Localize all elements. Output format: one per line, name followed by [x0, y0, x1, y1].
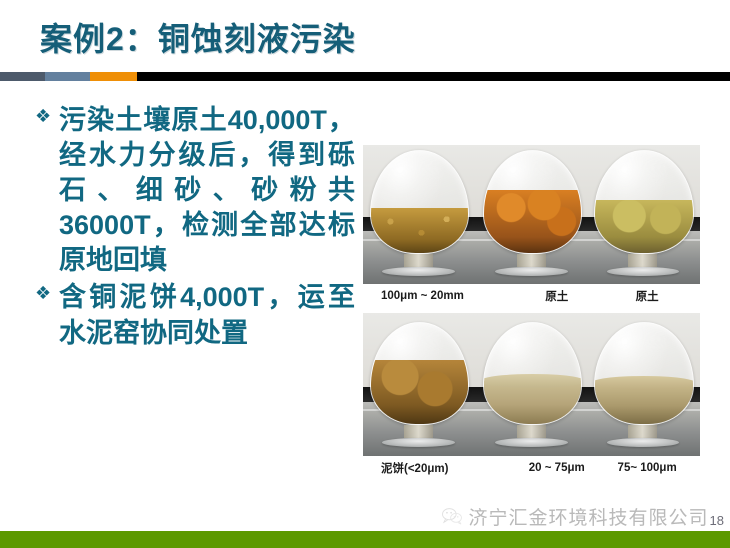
accent-seg-slate-dark — [0, 72, 45, 81]
bullet-item-2-text: 含铜泥饼4,000T，运至水泥窑协同处置 — [59, 280, 355, 350]
caption-bottom-2: 20 ~ 75μm — [511, 462, 602, 474]
page-number: 18 — [710, 513, 724, 530]
top-photo — [363, 145, 700, 284]
glass-egg-icon — [594, 150, 694, 254]
slide-root: 案例2：铜蚀刻液污染 ❖ 污染土壤原土40,000T，经水力分级后，得到砾石、细… — [0, 0, 730, 548]
vessel-base — [382, 267, 454, 276]
photo-gallery: 100μm ~ 20mm 原土 原土 — [363, 145, 700, 479]
bullet-item-1-text: 污染土壤原土40,000T，经水力分级后，得到砾石、细砂、砂粉共36000T，检… — [59, 103, 355, 278]
caption-top-1: 100μm ~ 20mm — [363, 290, 511, 302]
vessel-stem — [404, 254, 433, 267]
sample-vessel-6 — [594, 322, 692, 448]
vessel-stem — [628, 425, 657, 438]
vessel-base — [382, 438, 454, 447]
vessel-stem — [517, 425, 546, 438]
sample-material — [484, 381, 582, 425]
sample-material — [484, 190, 582, 253]
glass-egg-icon — [594, 322, 694, 426]
sample-material — [371, 360, 469, 424]
sample-material — [371, 208, 469, 253]
footer: 济宁汇金环境科技有限公司 18 — [0, 502, 730, 530]
page-title: 案例2：铜蚀刻液污染 — [40, 14, 356, 60]
bottom-photo-captions: 泥饼(<20μm) 20 ~ 75μm 75~ 100μm — [363, 456, 700, 479]
sample-vessel-5 — [483, 322, 581, 448]
sample-material — [595, 383, 693, 425]
vessel-base — [607, 438, 679, 447]
sample-vessel-1 — [370, 150, 468, 276]
sample-vessel-2 — [483, 150, 581, 276]
bullet-item-1: ❖ 污染土壤原土40,000T，经水力分级后，得到砾石、细砂、砂粉共36000T… — [35, 103, 355, 278]
glass-egg-icon — [370, 150, 470, 254]
top-photo-captions: 100μm ~ 20mm 原土 原土 — [363, 284, 700, 307]
wechat-logo-icon — [441, 507, 463, 525]
accent-rule — [0, 72, 730, 81]
bottom-photo — [363, 313, 700, 456]
vessel-stem — [628, 254, 657, 267]
caption-bottom-1: 泥饼(<20μm) — [363, 460, 511, 476]
watermark-text: 济宁汇金环境科技有限公司 — [469, 503, 709, 530]
photo-card-top: 100μm ~ 20mm 原土 原土 — [363, 145, 700, 307]
caption-bottom-3: 75~ 100μm — [602, 462, 700, 474]
bullet-item-2: ❖ 含铜泥饼4,000T，运至水泥窑协同处置 — [35, 280, 355, 350]
footer-green-bar — [0, 531, 730, 548]
bullet-list: ❖ 污染土壤原土40,000T，经水力分级后，得到砾石、细砂、砂粉共36000T… — [35, 103, 355, 353]
sample-vessel-4 — [370, 322, 468, 448]
vessel-stem — [517, 254, 546, 267]
glass-egg-icon — [370, 322, 470, 426]
vessel-base — [495, 267, 567, 276]
accent-seg-black — [137, 72, 730, 81]
caption-top-3: 原土 — [602, 288, 700, 304]
caption-top-2: 原土 — [511, 288, 602, 304]
diamond-bullet-icon: ❖ — [35, 103, 59, 131]
glass-egg-icon — [483, 150, 583, 254]
diamond-bullet-icon: ❖ — [35, 280, 59, 308]
sample-vessel-3 — [594, 150, 692, 276]
accent-seg-orange — [90, 72, 137, 81]
glass-egg-icon — [483, 322, 583, 426]
sample-material — [595, 200, 693, 253]
vessel-base — [495, 438, 567, 447]
vessel-stem — [404, 425, 433, 438]
vessel-base — [607, 267, 679, 276]
accent-seg-slate-light — [45, 72, 90, 81]
photo-card-bottom: 泥饼(<20μm) 20 ~ 75μm 75~ 100μm — [363, 313, 700, 479]
